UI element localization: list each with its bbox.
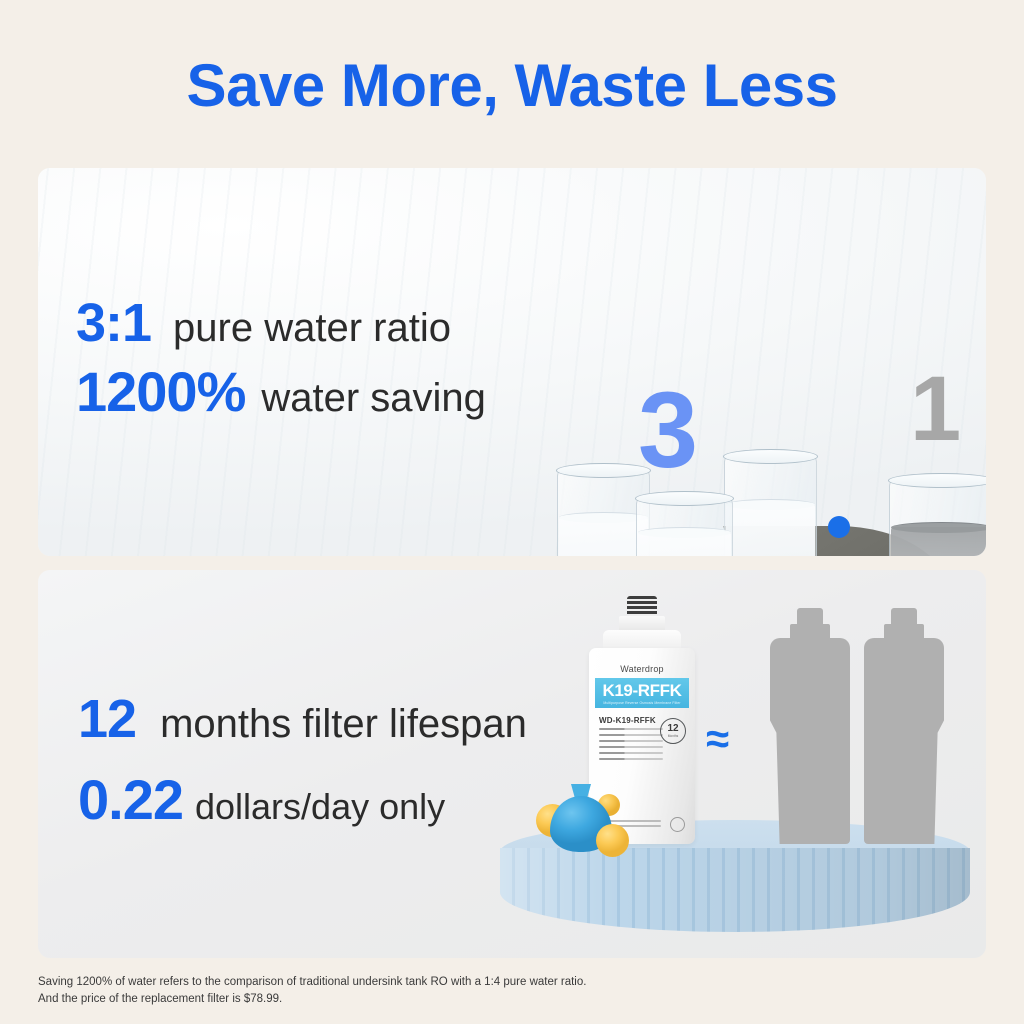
filter-brand-name: Waterdrop [589, 664, 695, 674]
silhouette-body [770, 638, 850, 844]
glass-water [891, 527, 986, 556]
coin-right [596, 824, 629, 857]
money-bag-icon [538, 780, 624, 852]
glass-rim [635, 491, 734, 506]
glass-rim [888, 473, 986, 488]
colon-dot-upper [828, 516, 850, 538]
stat-value-months: 12 [78, 692, 136, 746]
glass-clear-2 [724, 456, 817, 556]
filter-cap [627, 596, 657, 618]
stat-row-price: 0.22 dollars/day only [78, 772, 527, 828]
filter-lifespan-badge: 12 Months [660, 718, 686, 744]
stat-row-months: 12 months filter lifespan [78, 692, 527, 746]
comparison-numeral-three: 3 [638, 376, 698, 484]
stat-label-price: dollars/day only [195, 789, 445, 825]
pedestal-shading [500, 848, 970, 932]
glass-clear-3 [636, 498, 733, 556]
glass-rim [556, 463, 651, 478]
comparison-numeral-one: 1 [910, 363, 961, 455]
stat-label-months: months filter lifespan [160, 704, 527, 744]
stat-value-price: 0.22 [78, 772, 183, 828]
footnote-line-2: And the price of the replacement filter … [38, 991, 938, 1008]
filter-model-number: K19-RFFK [603, 682, 682, 699]
glass-water [638, 532, 731, 556]
glass-water [726, 504, 815, 556]
filter-silhouette-left [770, 608, 850, 848]
stat-value-saving: 1200% [76, 364, 245, 420]
ratio-stats: 3:1 pure water ratio 1200% water saving [76, 296, 486, 434]
silhouette-neck [884, 624, 924, 640]
footnote: Saving 1200% of water refers to the comp… [38, 974, 938, 1007]
pure-water-ratio-panel: 3 1 3:1 pure water ratio [38, 168, 986, 556]
lifespan-stats: 12 months filter lifespan 0.22 dollars/d… [78, 692, 527, 854]
stat-row-ratio: 3:1 pure water ratio [76, 296, 486, 350]
silhouette-neck [790, 624, 830, 640]
badge-unit: Months [668, 734, 678, 738]
stat-row-saving: 1200% water saving [76, 364, 486, 420]
stat-label-ratio: pure water ratio [173, 308, 451, 348]
filter-spec-lines [599, 728, 663, 764]
certification-seal-icon [670, 817, 685, 832]
footnote-line-1: Saving 1200% of water refers to the comp… [38, 974, 938, 991]
glass-rim [723, 449, 818, 464]
glass-waste-water [889, 480, 986, 556]
approximately-equal-icon: ≈ [706, 718, 729, 760]
ratio-colon-dots [828, 516, 850, 556]
filter-model-banner: K19-RFFK Multipurpose Reverse Osmosis Me… [595, 678, 689, 708]
badge-value: 12 [667, 724, 678, 734]
silhouette-body [864, 638, 944, 844]
stat-value-ratio: 3:1 [76, 296, 151, 350]
filter-part-number: WD-K19-RFFK [599, 716, 656, 725]
page-title: Save More, Waste Less [0, 56, 1024, 116]
filter-banner-subtitle: Multipurpose Reverse Osmosis Membrane Fi… [603, 701, 680, 705]
filter-silhouette-right [864, 608, 944, 848]
stat-label-saving: water saving [261, 378, 486, 418]
glass-water [559, 517, 648, 556]
